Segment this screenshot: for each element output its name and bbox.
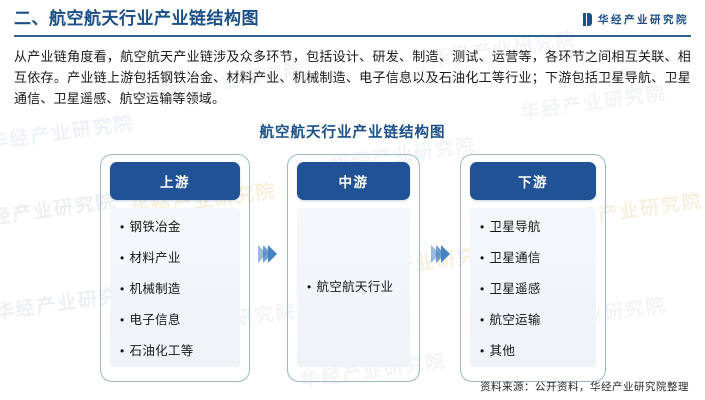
bullet-icon: •	[480, 313, 485, 328]
list-item-label: 钢铁冶金	[130, 220, 181, 235]
intro-paragraph: 从产业链角度看，航空航天产业链涉及众多环节，包括设计、研发、制造、测试、运营等，…	[14, 46, 691, 109]
bookmark-logo-icon	[583, 13, 593, 26]
list-item: • 卫星导航	[480, 220, 590, 235]
list-item-label: 航空运输	[490, 313, 541, 328]
bullet-icon: •	[120, 282, 125, 297]
title-divider	[14, 35, 691, 37]
list-item-label: 石油化工等	[130, 344, 194, 359]
bullet-icon: •	[120, 313, 125, 328]
list-item: • 钢铁冶金	[120, 220, 234, 235]
chevron-2	[436, 245, 445, 263]
list-item: • 卫星通信	[480, 251, 590, 266]
bullet-icon: •	[120, 251, 125, 266]
bullet-icon: •	[120, 220, 125, 235]
bullet-icon: •	[480, 282, 485, 297]
list-item-label: 机械制造	[130, 282, 181, 297]
column-body-midstream: • 航空航天行业	[297, 208, 410, 367]
list-item: • 机械制造	[120, 282, 234, 297]
column-header-midstream: 中游	[297, 162, 410, 200]
list-item: • 航空航天行业	[307, 280, 393, 295]
double-chevron-right-icon	[425, 244, 459, 264]
source-note: 资料来源：公开资料，华经产业研究院整理	[480, 379, 689, 394]
chain-column-midstream: 中游 • 航空航天行业	[287, 154, 420, 382]
list-item-label: 卫星遥感	[490, 282, 541, 297]
bullet-icon: •	[480, 251, 485, 266]
bullet-icon: •	[480, 344, 485, 359]
value-chain-diagram: 上游 • 钢铁冶金 • 材料产业 • 机械制造 • 电子信息	[0, 154, 705, 386]
chevron-2	[263, 245, 272, 263]
brand-name: 华经产业研究院	[598, 12, 689, 27]
column-header-upstream: 上游	[110, 162, 240, 200]
list-item: • 材料产业	[120, 251, 234, 266]
list-item: • 航空运输	[480, 313, 590, 328]
chain-column-upstream: 上游 • 钢铁冶金 • 材料产业 • 机械制造 • 电子信息	[100, 154, 250, 382]
bullet-icon: •	[480, 220, 485, 235]
list-item: • 石油化工等	[120, 344, 234, 359]
list-item-label: 电子信息	[130, 313, 181, 328]
column-body-downstream: • 卫星导航 • 卫星通信 • 卫星遥感 • 航空运输 • 其他	[470, 208, 596, 367]
chart-title: 航空航天行业产业链结构图	[0, 121, 705, 142]
list-item-label: 卫星通信	[490, 251, 541, 266]
report-page: 二、航空航天行业产业链结构图 华经产业研究院 从产业链角度看，航空航天产业链涉及…	[0, 0, 705, 400]
bullet-icon: •	[307, 280, 312, 295]
list-item-label: 航空航天行业	[317, 280, 394, 295]
column-body-upstream: • 钢铁冶金 • 材料产业 • 机械制造 • 电子信息 • 石油化工等	[110, 208, 240, 367]
brand-logo: 华经产业研究院	[583, 12, 689, 27]
list-item-label: 其他	[490, 344, 516, 359]
list-item: • 卫星遥感	[480, 282, 590, 297]
double-chevron-right-icon	[252, 244, 286, 264]
list-item: • 其他	[480, 344, 590, 359]
chain-column-downstream: 下游 • 卫星导航 • 卫星通信 • 卫星遥感 • 航空运输	[460, 154, 606, 382]
list-item-label: 材料产业	[130, 251, 181, 266]
list-item: • 电子信息	[120, 313, 234, 328]
page-title: 二、航空航天行业产业链结构图	[14, 8, 259, 29]
bullet-icon: •	[120, 344, 125, 359]
column-header-downstream: 下游	[470, 162, 596, 200]
page-header: 二、航空航天行业产业链结构图 华经产业研究院	[0, 0, 705, 34]
list-item-label: 卫星导航	[490, 220, 541, 235]
